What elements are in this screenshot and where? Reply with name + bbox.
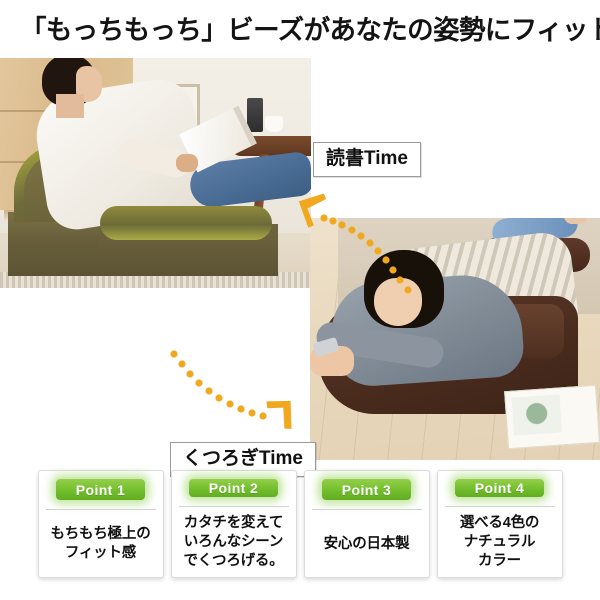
point-text-1-line-2: フィット感 <box>50 544 150 563</box>
coffee-cup <box>265 116 283 132</box>
point-text-3: 安心の日本製 <box>324 517 410 571</box>
point-text-1: もちもち極上の フィット感 <box>50 517 150 571</box>
point-text-4-line-2: ナチュラル <box>460 533 539 552</box>
coffee-press <box>247 98 263 132</box>
point-badge-2: Point 2 <box>189 479 278 497</box>
point-badge-1: Point 1 <box>56 479 145 500</box>
seated-person-hand <box>176 154 198 172</box>
open-magazine <box>504 385 600 449</box>
reading-scene-photo <box>0 58 311 288</box>
point-box-3: Point 3 安心の日本製 <box>304 470 430 578</box>
relaxing-scene-photo <box>310 218 600 460</box>
point-badge-3: Point 3 <box>322 479 411 500</box>
callout-reading-time: 読書Time <box>313 142 421 177</box>
point-text-2-line-3: でくつろげる。 <box>183 552 283 571</box>
arrow-to-relax-icon <box>168 350 298 448</box>
point-divider-2 <box>179 506 289 507</box>
point-text-3-line-1: 安心の日本製 <box>324 535 410 554</box>
point-box-4: Point 4 選べる4色の ナチュラル カラー <box>437 470 563 578</box>
point-badge-4: Point 4 <box>455 479 544 497</box>
point-box-2: Point 2 カタチを変えて いろんなシーン でくつろげる。 <box>171 470 297 578</box>
points-row: Point 1 もちもち極上の フィット感 Point 2 カタチを変えて いろ… <box>0 470 600 600</box>
point-text-2: カタチを変えて いろんなシーン でくつろげる。 <box>183 514 283 571</box>
point-text-4: 選べる4色の ナチュラル カラー <box>460 514 539 571</box>
seated-person-neck <box>56 94 84 118</box>
point-text-2-line-2: いろんなシーン <box>183 533 283 552</box>
point-box-1: Point 1 もちもち極上の フィット感 <box>38 470 164 578</box>
point-text-4-line-1: 選べる4色の <box>460 514 539 533</box>
floor-sofa-cushion <box>100 206 272 240</box>
point-text-2-line-1: カタチを変えて <box>183 514 283 533</box>
point-divider-4 <box>445 506 555 507</box>
reading-scene-illustration <box>0 58 311 288</box>
relaxing-scene-illustration <box>310 218 600 460</box>
page-title: 「もっちもっち」ビーズがあなたの姿勢にフィット! <box>20 13 585 47</box>
point-divider-3 <box>312 509 422 510</box>
magazine-illustration <box>512 394 563 435</box>
photo-stage: 読書Time くつろぎTime <box>0 58 600 460</box>
point-text-1-line-1: もちもち極上の <box>50 525 150 544</box>
point-text-4-line-3: カラー <box>460 552 539 571</box>
point-divider-1 <box>46 509 156 510</box>
lying-person-face <box>374 278 422 326</box>
